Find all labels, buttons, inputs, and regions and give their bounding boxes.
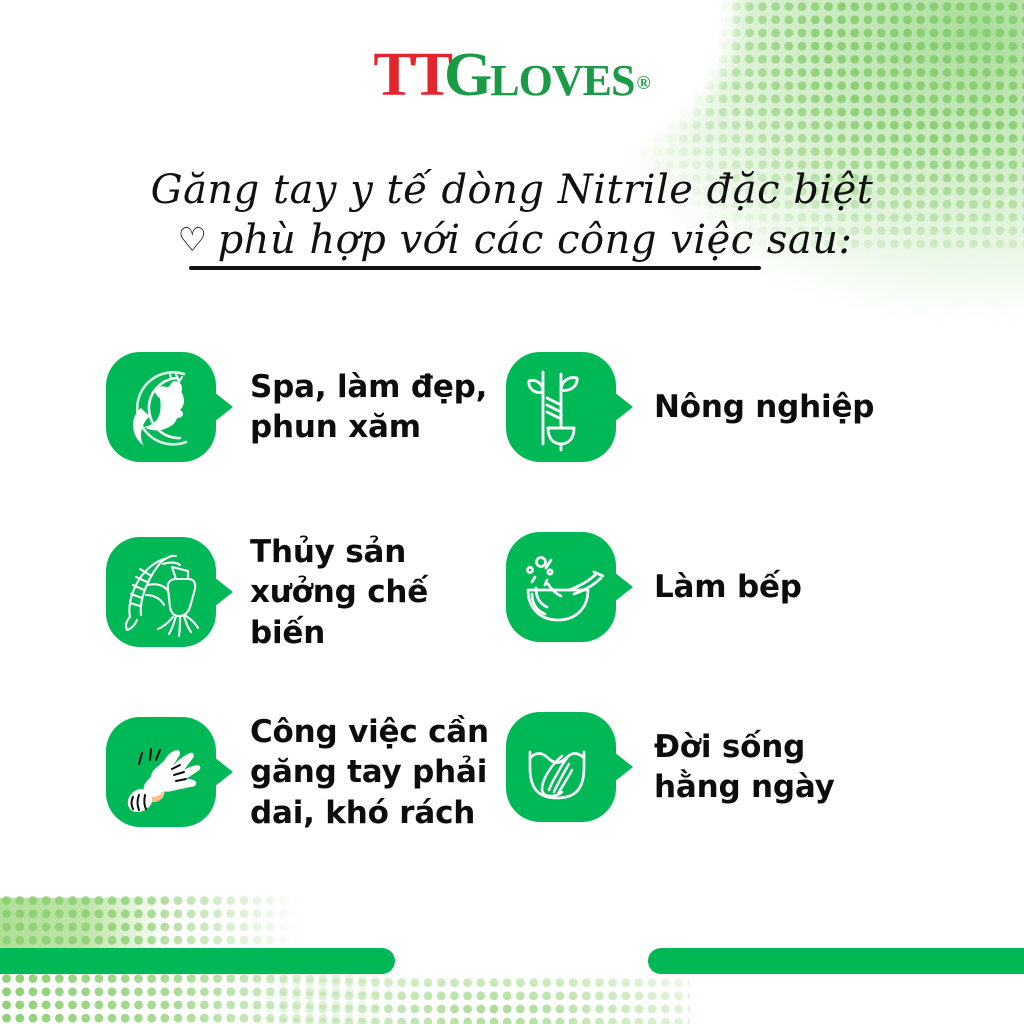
icon-tile-durable-gloves [106,717,216,827]
icon-tile-seafood [106,537,216,647]
use-case-grid: Spa, làm đẹp, phun xăm [0,352,1024,892]
logo-text-loves: LOVES [490,56,634,105]
heart-icon: ♡ [177,220,207,259]
headline-line-1: Găng tay y tế dòng Nitrile đặc biệt [0,168,1024,212]
headline: Găng tay y tế dòng Nitrile đặc biệt ♡phù… [0,168,1024,262]
registered-mark-icon: ® [636,73,650,94]
bottom-bar-right [648,948,1024,974]
use-case-item-spa: Spa, làm đẹp, phun xăm [0,352,496,462]
logo-text-g: G [444,41,492,109]
use-case-label: Thủy sản xưởng chế biến [250,532,496,653]
brand-logo: TTGLOVES® [0,44,1024,106]
use-case-label: Làm bếp [654,567,802,607]
icon-tile-cooking [506,532,616,642]
use-case-label: Đời sống hằng ngày [654,727,835,808]
use-case-item-daily-life: Đời sống hằng ngày [496,712,1024,822]
gloved-hands-icon [106,717,216,827]
plant-shovel-icon [506,352,616,462]
bottom-halftone-dots-right [250,976,690,1024]
use-case-row: Thủy sản xưởng chế biến [0,532,1024,712]
icon-tile-daily-life [506,712,616,822]
use-case-item-seafood: Thủy sản xưởng chế biến [0,532,496,653]
use-case-row: Spa, làm đẹp, phun xăm [0,352,1024,532]
logo-text-tt: TT [373,41,450,109]
use-case-item-cooking: Làm bếp [496,532,1024,642]
shrimp-squid-icon [106,537,216,647]
use-case-label: Spa, làm đẹp, phun xăm [250,367,487,448]
bottom-halftone-dots-lower [0,972,440,1024]
woman-face-flower-icon [106,352,216,462]
bottom-bar-left [0,948,395,974]
use-case-item-agriculture: Nông nghiệp [496,352,1024,462]
use-case-label: Nông nghiệp [654,387,874,427]
icon-tile-agriculture [506,352,616,462]
bottom-halftone-dots-upper [0,894,300,950]
headline-line-2-text: phù hợp với các công việc sau: [218,217,853,263]
use-case-label: Công việc cần găng tay phải dai, khó rác… [250,712,489,833]
headline-underline [189,266,761,270]
handwash-basin-icon [506,712,616,822]
poster: TTGLOVES® Găng tay y tế dòng Nitrile đặc… [0,0,1024,1024]
wok-pan-icon [506,532,616,642]
headline-line-2: ♡phù hợp với các công việc sau: [177,218,852,262]
use-case-row: Công việc cần găng tay phải dai, khó rác… [0,712,1024,892]
use-case-item-durable-gloves: Công việc cần găng tay phải dai, khó rác… [0,712,496,833]
icon-tile-spa [106,352,216,462]
